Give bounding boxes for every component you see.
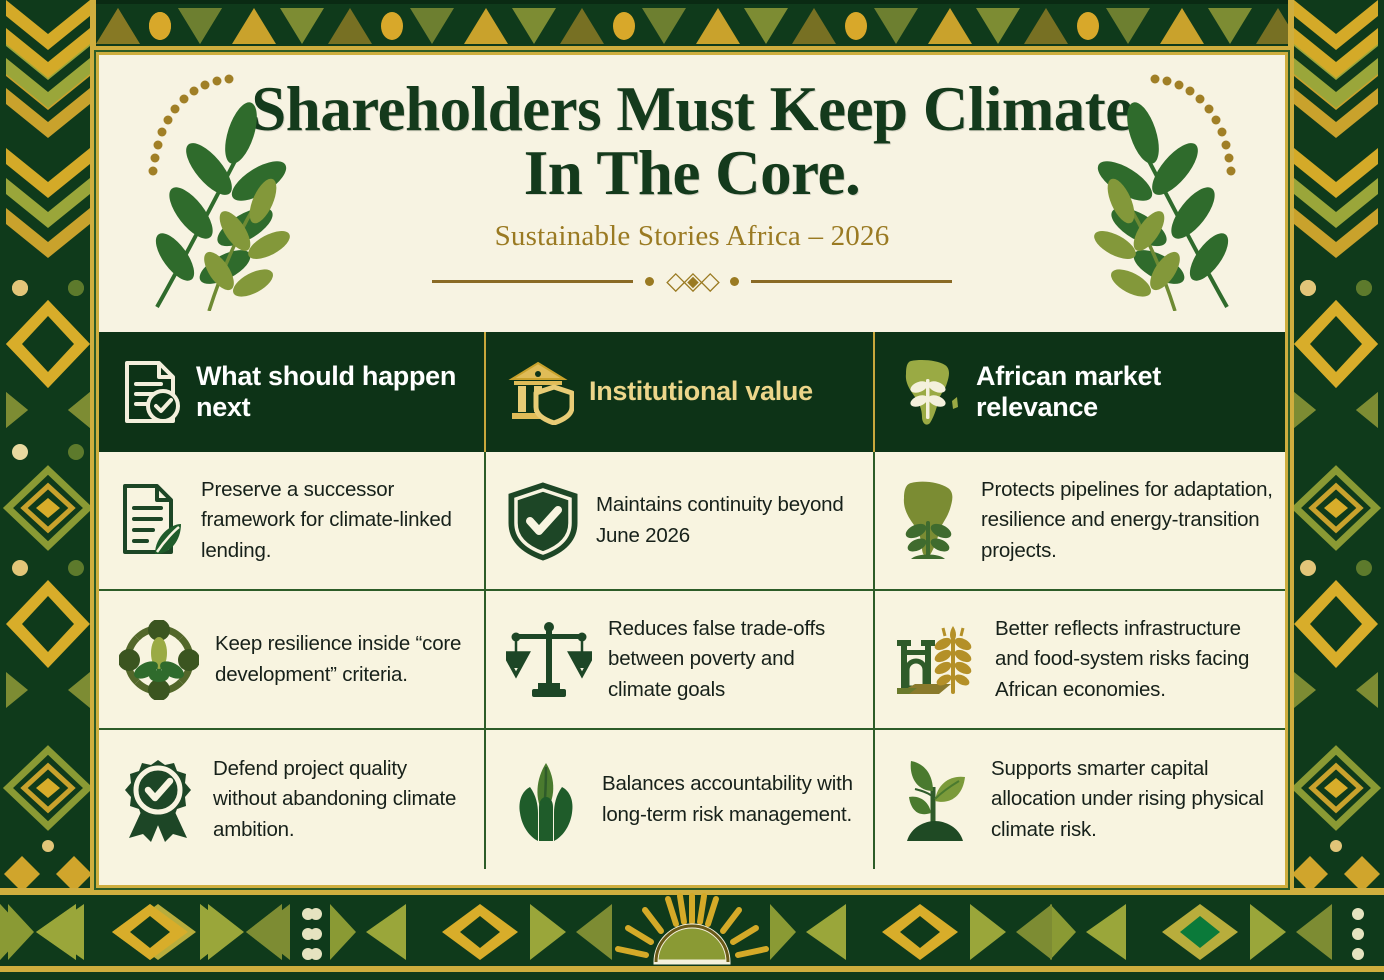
border-band-right — [1288, 0, 1384, 980]
scales-balance-icon — [506, 619, 592, 701]
shield-check-icon — [506, 481, 580, 561]
table-header-cell-2: Institutional value — [486, 332, 875, 452]
seedling-soil-icon — [895, 757, 975, 843]
olive-branch-left-icon — [113, 61, 343, 311]
title-section: Shareholders Must Keep Climate In The Co… — [99, 55, 1285, 332]
document-check-icon — [121, 359, 181, 425]
table-cell: Protects pipelines for adaptation, resil… — [875, 452, 1285, 591]
network-plant-icon — [119, 620, 199, 700]
table-cell-text: Balances accountability with long-term r… — [602, 769, 861, 830]
table-cell: Balances accountability with long-term r… — [486, 730, 875, 869]
table-cell: Preserve a successor framework for clima… — [99, 452, 486, 591]
comparison-table: What should happen next — [99, 332, 1285, 869]
border-band-top — [0, 0, 1384, 52]
divider-dot-left — [645, 277, 654, 286]
table-cell-text: Reduces false trade-offs between poverty… — [608, 614, 861, 705]
table-cell: Supports smarter capital allocation unde… — [875, 730, 1285, 869]
page-title: Shareholders Must Keep Climate In The Co… — [242, 77, 1142, 206]
award-badge-check-icon — [119, 758, 197, 842]
table-row: Keep resilience inside “core development… — [99, 591, 1285, 730]
divider-line-right — [751, 280, 952, 283]
table-cell-text: Supports smarter capital allocation unde… — [991, 754, 1273, 845]
table-row: Defend project quality without abandonin… — [99, 730, 1285, 869]
table-cell-text: Protects pipelines for adaptation, resil… — [981, 475, 1273, 566]
bank-shield-icon — [508, 359, 574, 425]
content-card: Shareholders Must Keep Climate In The Co… — [96, 52, 1288, 888]
table-cell-text: Better reflects infrastructure and food-… — [995, 614, 1273, 705]
page-subtitle: Sustainable Stories Africa – 2026 — [495, 220, 890, 253]
divider-ornament: ◇◈◇ — [666, 269, 718, 294]
africa-sprout-icon — [895, 479, 965, 563]
olive-branch-right-icon — [1041, 61, 1271, 311]
bottom-pattern-icon — [0, 888, 1384, 980]
table-header-cell-1: What should happen next — [99, 332, 486, 452]
document-leaf-icon — [119, 482, 185, 560]
top-pattern-icon — [0, 0, 1384, 52]
africa-plant-icon — [897, 357, 961, 427]
right-pattern-icon — [1288, 0, 1384, 980]
table-header-label-2: Institutional value — [589, 376, 813, 407]
hands-leaf-icon — [506, 757, 586, 843]
table-header-row: What should happen next — [99, 332, 1285, 452]
left-pattern-icon — [0, 0, 96, 980]
table-cell-text: Maintains continuity beyond June 2026 — [596, 490, 861, 551]
table-cell: Defend project quality without abandonin… — [99, 730, 486, 869]
table-row: Preserve a successor framework for clima… — [99, 452, 1285, 591]
table-cell: Better reflects infrastructure and food-… — [875, 591, 1285, 730]
bridge-wheat-icon — [895, 618, 979, 702]
divider-line-left — [432, 280, 633, 283]
infographic-poster: Shareholders Must Keep Climate In The Co… — [0, 0, 1384, 980]
table-header-label-3: African market relevance — [976, 361, 1271, 424]
table-header-label-1: What should happen next — [196, 361, 470, 424]
table-header-cell-3: African market relevance — [875, 332, 1285, 452]
table-cell-text: Defend project quality without abandonin… — [213, 754, 472, 845]
table-cell-text: Keep resilience inside “core development… — [215, 629, 472, 690]
table-cell: Maintains continuity beyond June 2026 — [486, 452, 875, 591]
border-band-left — [0, 0, 96, 980]
table-cell-text: Preserve a successor framework for clima… — [201, 475, 472, 566]
table-cell: Keep resilience inside “core development… — [99, 591, 486, 730]
divider-dot-right — [730, 277, 739, 286]
ornamental-divider: ◇◈◇ — [432, 269, 952, 294]
border-band-bottom — [0, 888, 1384, 980]
table-cell: Reduces false trade-offs between poverty… — [486, 591, 875, 730]
